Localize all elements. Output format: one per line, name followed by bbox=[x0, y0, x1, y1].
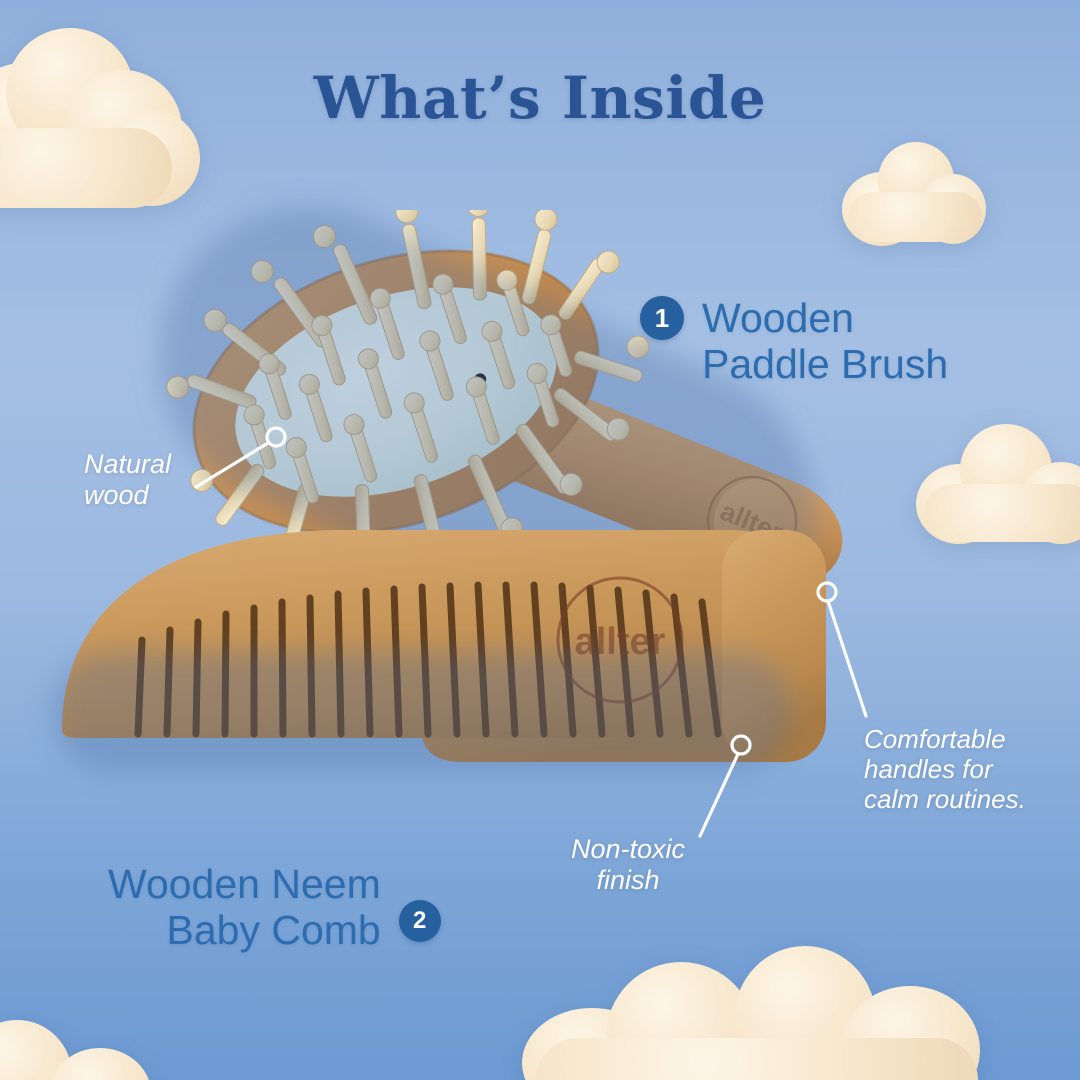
cloud-right-middle bbox=[916, 420, 1080, 544]
cloud-bottom-left bbox=[0, 1012, 180, 1080]
item-label-2[interactable]: Wooden Neem Baby Comb 2 bbox=[108, 862, 441, 954]
callout-comfortable-handles: Comfortable handles for calm routines. bbox=[864, 724, 1026, 814]
page-title: What’s Inside bbox=[0, 64, 1080, 132]
callout-non-toxic-finish: Non-toxic finish bbox=[571, 834, 685, 897]
neem-comb-image: allter bbox=[34, 512, 844, 812]
item-number-badge-1: 1 bbox=[640, 296, 684, 340]
infographic-canvas: allter bbox=[0, 0, 1080, 1080]
callout-natural-wood: Natural wood bbox=[84, 449, 171, 512]
cloud-bottom-center bbox=[522, 942, 992, 1080]
item-label-1[interactable]: 1 Wooden Paddle Brush bbox=[640, 296, 948, 388]
item-number-badge-2: 2 bbox=[399, 900, 441, 942]
item-title-2: Wooden Neem Baby Comb bbox=[108, 862, 381, 954]
item-title-1: Wooden Paddle Brush bbox=[702, 296, 948, 388]
